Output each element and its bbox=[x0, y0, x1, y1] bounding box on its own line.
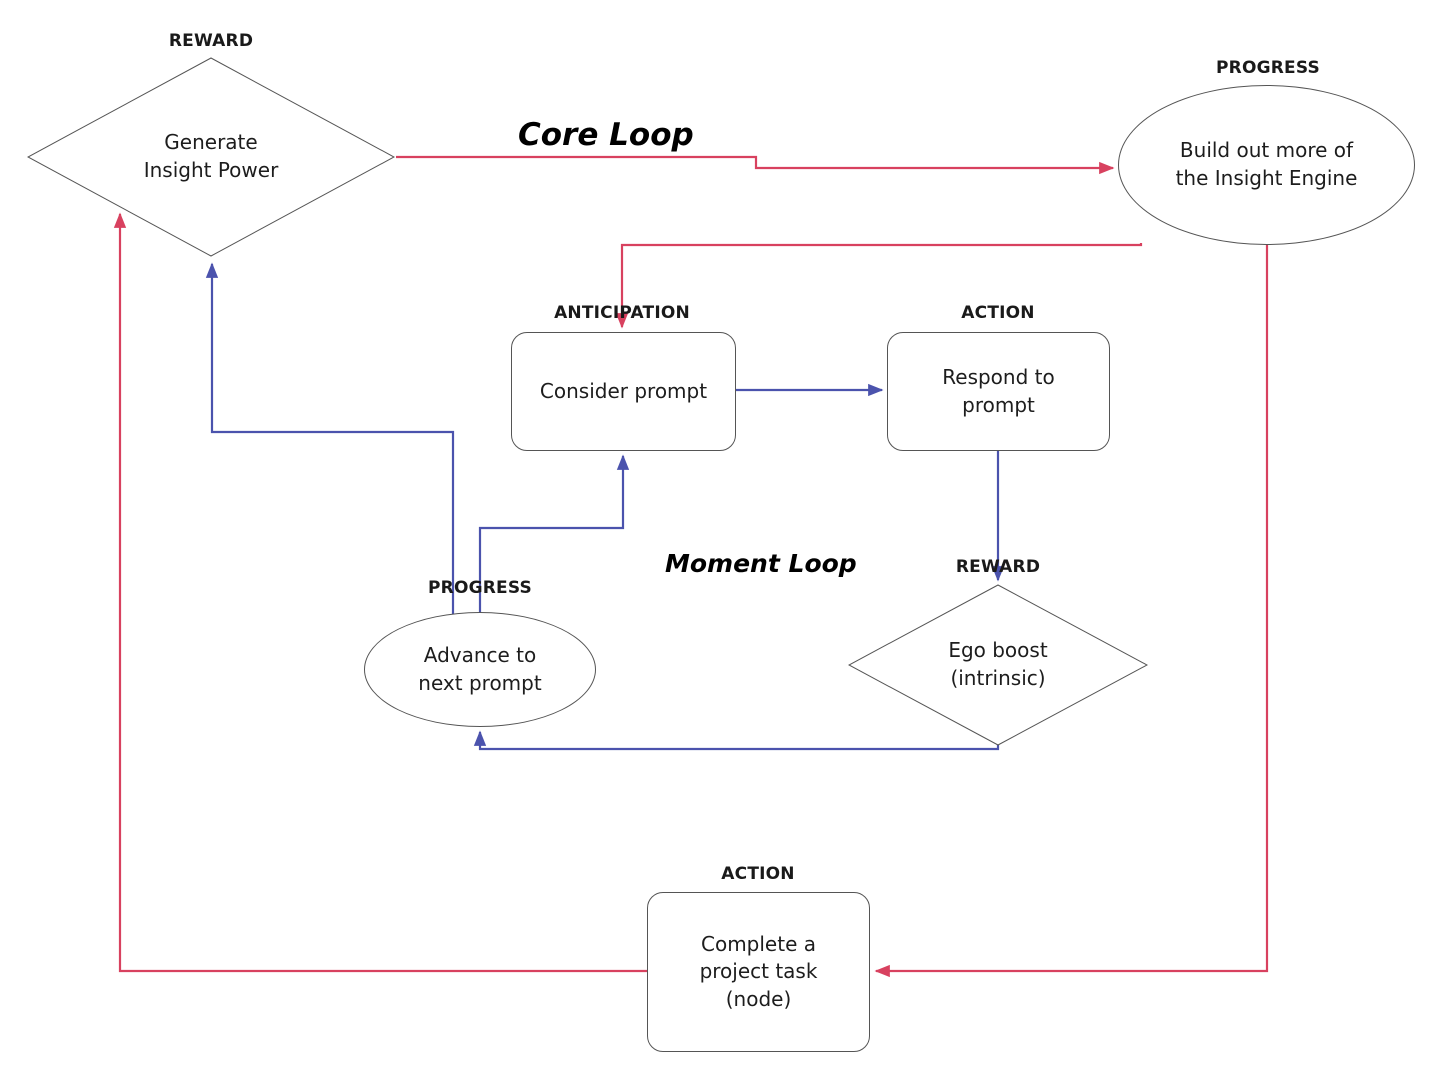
edge-build-to-consider bbox=[622, 243, 1141, 327]
node-tag-complete-project-task: ACTION bbox=[721, 864, 794, 884]
node-label-ego-boost: Ego boost (intrinsic) bbox=[848, 584, 1148, 746]
node-generate-insight-power[interactable]: Generate Insight Power bbox=[27, 57, 395, 257]
node-advance-next-prompt[interactable]: Advance to next prompt bbox=[364, 612, 596, 727]
node-ego-boost[interactable]: Ego boost (intrinsic) bbox=[848, 584, 1148, 746]
edge-generate-to-build bbox=[396, 157, 1113, 168]
node-label-generate-insight-power: Generate Insight Power bbox=[27, 57, 395, 257]
node-build-insight-engine[interactable]: Build out more of the Insight Engine bbox=[1118, 85, 1415, 245]
node-tag-build-insight-engine: PROGRESS bbox=[1216, 58, 1320, 78]
node-respond-to-prompt[interactable]: Respond to prompt bbox=[887, 332, 1110, 451]
node-consider-prompt[interactable]: Consider prompt bbox=[511, 332, 736, 451]
node-complete-project-task[interactable]: Complete a project task (node) bbox=[647, 892, 870, 1052]
edge-advance-to-generate bbox=[212, 264, 453, 620]
edge-complete-to-generate bbox=[120, 214, 647, 971]
moment-loop-label: Moment Loop bbox=[665, 549, 857, 578]
node-tag-respond-to-prompt: ACTION bbox=[961, 303, 1034, 323]
node-tag-advance-next-prompt: PROGRESS bbox=[428, 578, 532, 598]
core-loop-label: Core Loop bbox=[518, 117, 694, 153]
node-tag-ego-boost: REWARD bbox=[956, 557, 1040, 577]
node-tag-generate-insight-power: REWARD bbox=[169, 31, 253, 51]
node-tag-consider-prompt: ANTICIPATION bbox=[554, 303, 690, 323]
diagram-canvas: Core Loop Moment Loop REWARD Generate In… bbox=[0, 0, 1452, 1075]
